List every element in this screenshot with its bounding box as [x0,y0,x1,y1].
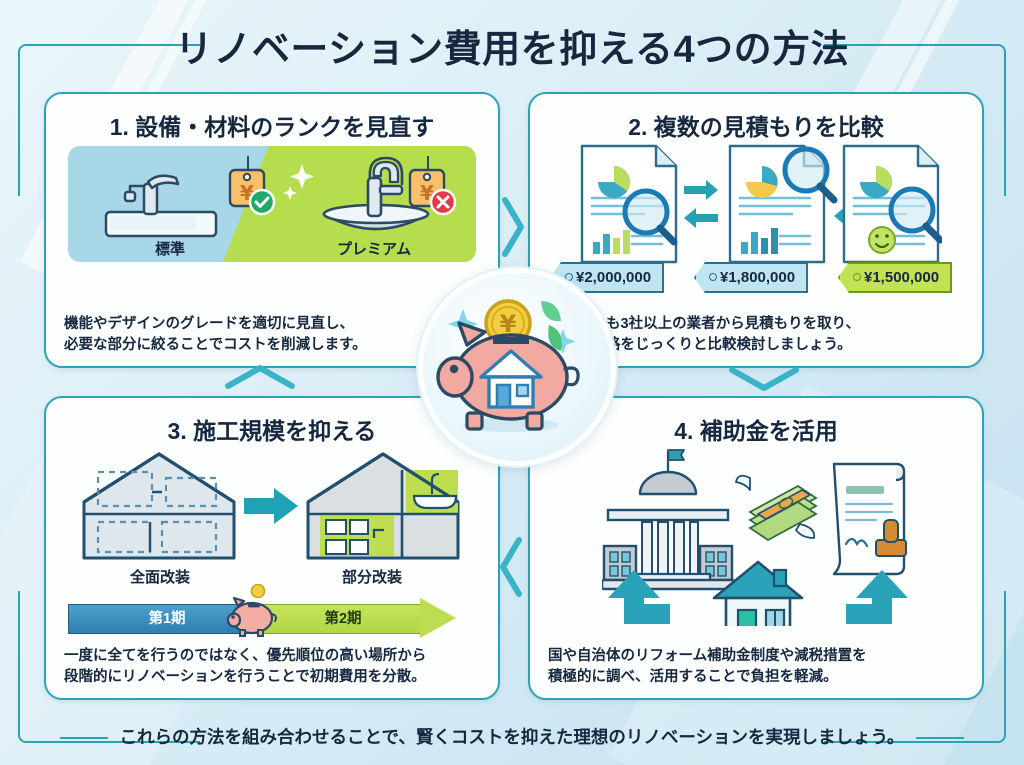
footer-dash-left [60,737,108,739]
subsidy-flow-group-icon [602,446,914,626]
connector-chevron-up [200,360,320,396]
card-3-description: 一度に全てを行うのではなく、優先順位の高い場所から 段階的にリノベーションを行う… [64,646,480,688]
price-tag-2-value: ¥1,800,000 [720,269,795,286]
standard-vs-premium-panel: ¥ ¥ [68,146,476,262]
price-tag-3-value: ¥1,500,000 [864,269,939,286]
flying-money-icon [736,476,816,540]
small-piggy-bank-icon [224,584,284,638]
phase-2-segment: 第2期 [264,604,423,634]
full-renovation-house-icon [78,448,240,564]
piggy-bank-with-house-icon: ¥ [423,273,601,451]
footer-summary: これらの方法を組み合わせることで、賢くコストを抑えた理想のリノベーションを実現し… [0,724,1024,749]
sparkle-icon [282,162,316,202]
coin-slot [493,337,529,344]
card-4-desc-line1: 国や自治体のリフォーム補助金制度や減税措置を [548,646,964,667]
card-1-desc-line1: 機能やデザインのグレードを適切に見直し、 [64,314,480,335]
house-label-full: 全面改装 [80,566,240,587]
government-building-icon [602,450,734,589]
premium-price-tag-icon: ¥ [398,152,460,224]
phase-timeline: 第1期 第2期 [68,598,474,638]
quote-price-tags: ¥2,000,000 ¥1,800,000 ¥1,500,000 [546,262,966,292]
partial-renovation-house-icon [302,448,464,564]
footer-text: これらの方法を組み合わせることで、賢くコストを抑えた理想のリノベーションを実現し… [120,727,905,747]
certificate-stamp-icon [834,464,906,574]
quote-document-3 [844,146,940,262]
quote-document-2 [730,146,834,262]
compare-arrows-icon [684,180,718,228]
piggy-eye [450,365,458,373]
footer-dash-right [916,737,964,739]
quote-document-1 [582,146,676,262]
scope-arrow-icon [244,488,298,524]
piggy-snout [438,358,472,396]
card-3-desc-line2: 段階的にリノベーションを行うことで初期費用を分散。 [64,667,480,688]
grade-label-premium: プレミアム [272,238,476,259]
house-label-partial: 部分改装 [292,566,452,587]
card-3-desc-line1: 一度に全てを行うのではなく、優先順位の高い場所から [64,646,480,667]
card-1-title: 1. 設備・材料のランクを見直す [46,108,498,142]
card-2-desc-line1: 少なくとも3社以上の業者から見積もりを取り、 [548,314,964,335]
standard-faucet-icon [102,156,222,242]
page-title: リノベーション費用を抑える4つの方法 [0,18,1024,73]
leaf-icon [541,301,561,321]
card-1-desc-line2: 必要な部分に絞ることでコストを削減します。 [64,335,480,356]
card-4-desc-line2: 積極的に調べ、活用することで負担を軽減。 [548,667,964,688]
connector-chevron-down [704,360,824,396]
card-1-description: 機能やデザインのグレードを適切に見直し、 必要な部分に絞ることでコストを削減しま… [64,314,480,356]
card-2-title: 2. 複数の見積もりを比較 [530,108,982,142]
price-tag-2: ¥1,800,000 [694,262,808,293]
price-tag-3-best: ¥1,500,000 [838,262,952,293]
card-4-description: 国や自治体のリフォーム補助金制度や減税措置を 積極的に調べ、活用することで負担を… [548,646,964,688]
connector-chevron-left [496,512,528,622]
tag-hole-icon [853,273,861,281]
infographic-canvas: リノベーション費用を抑える4つの方法 1. 設備・材料のランクを見直す ¥ [0,0,1024,765]
standard-price-tag-icon: ¥ [218,152,278,224]
tag-hole-icon [709,273,717,281]
connector-chevron-right [496,172,528,282]
timeline-arrowhead-icon [420,598,456,638]
center-piggy-bank-badge: ¥ [418,268,616,466]
grade-label-standard: 標準 [68,238,272,259]
quote-documents-group-icon [576,144,942,266]
